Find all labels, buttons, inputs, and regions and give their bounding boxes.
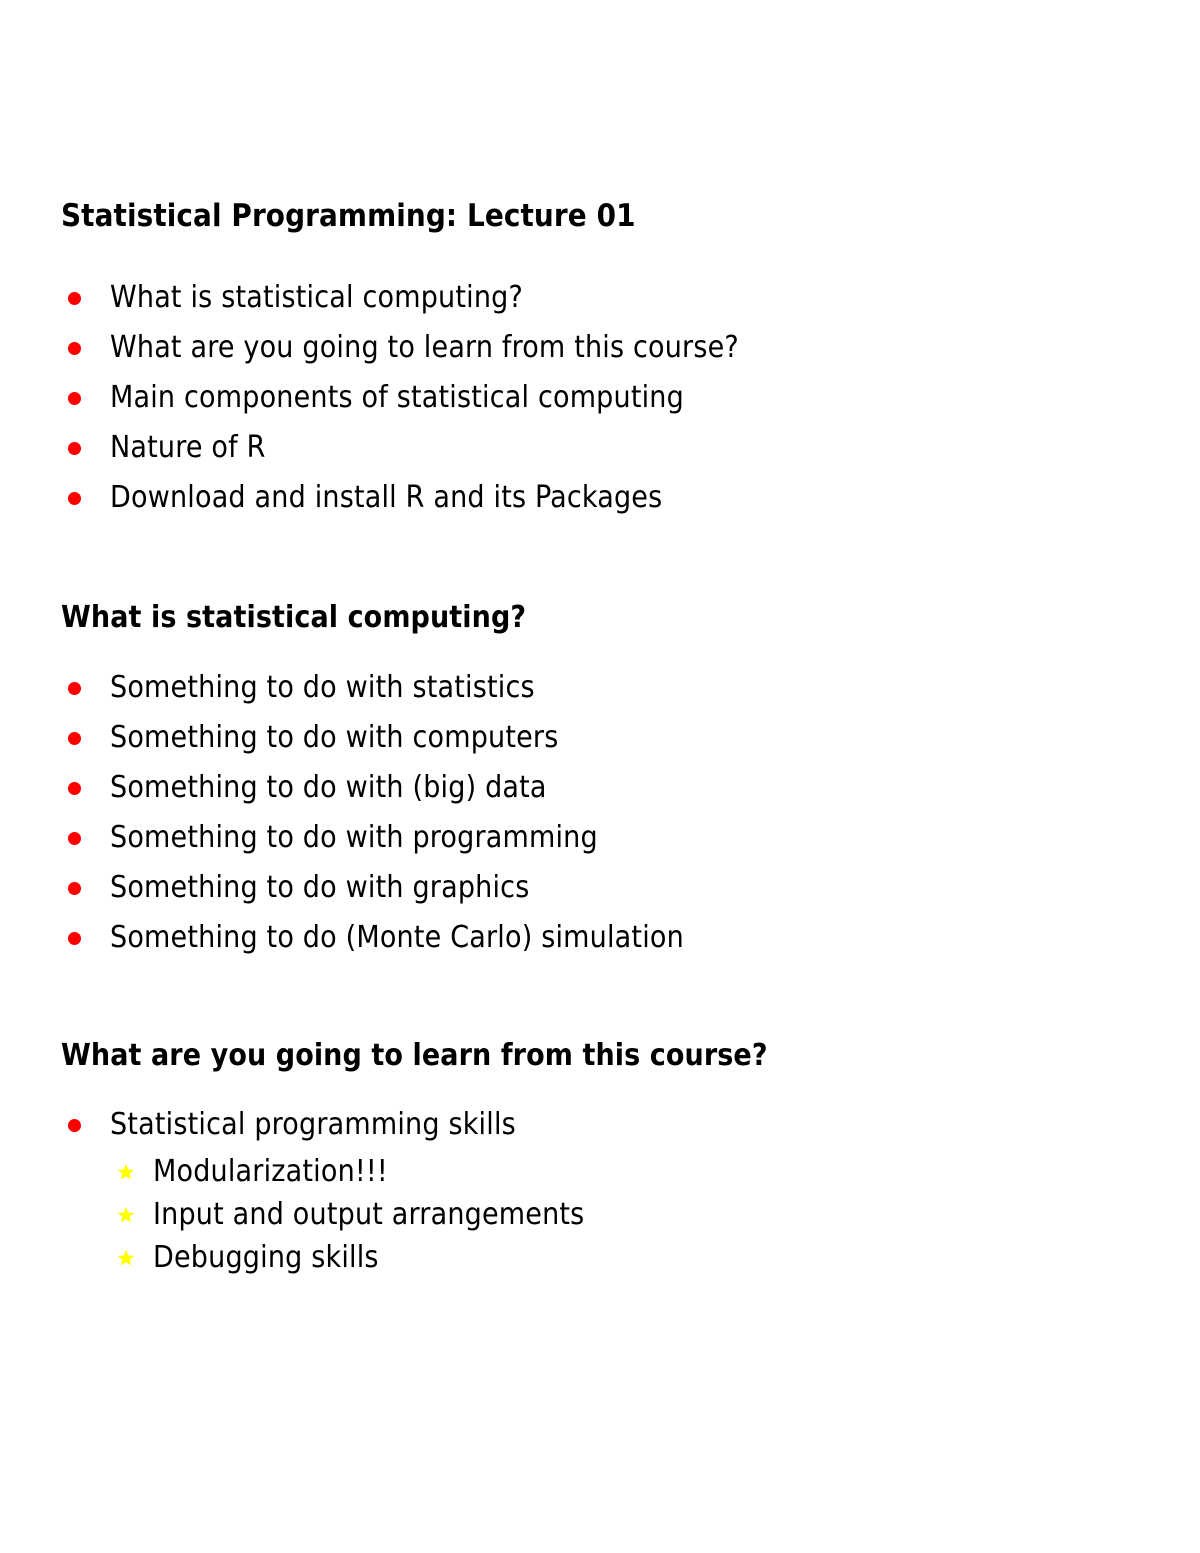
list-item: Something to do with graphics <box>0 863 684 913</box>
list-item-label: Something to do with programming <box>110 820 598 855</box>
document-page: Statistical Programming: Lecture 01 What… <box>0 0 1200 1553</box>
statistical-programming-skills-sub-list: Modularization!!! Input and output arran… <box>0 1150 584 1279</box>
sub-list-item: Input and output arrangements <box>0 1193 584 1236</box>
section-heading-what-are-you-going-to-learn: What are you going to learn from this co… <box>61 1037 768 1075</box>
list-item: What are you going to learn from this co… <box>0 323 739 373</box>
list-item: Something to do with statistics <box>0 663 684 713</box>
red-dot-bullet-icon <box>68 392 81 405</box>
sub-list-item-label: Debugging skills <box>153 1240 379 1275</box>
list-item: Download and install R and its Packages <box>0 473 739 523</box>
list-item-label: Something to do (Monte Carlo) simulation <box>110 920 684 955</box>
list-item: What is statistical computing? <box>0 273 739 323</box>
sub-list-item: Modularization!!! <box>0 1150 584 1193</box>
red-dot-bullet-icon <box>68 882 81 895</box>
list-item-label: Main components of statistical computing <box>110 380 684 415</box>
sub-list-container: Modularization!!! Input and output arran… <box>0 1150 584 1279</box>
red-dot-bullet-icon <box>68 442 81 455</box>
list-item-label: Nature of R <box>110 430 266 465</box>
red-dot-bullet-icon <box>68 732 81 745</box>
list-item: Something to do with (big) data <box>0 763 684 813</box>
list-item-label: Download and install R and its Packages <box>110 480 662 515</box>
learning-outcomes-bullet-list: Statistical programming skills Modulariz… <box>0 1100 584 1279</box>
list-item-label: Something to do with (big) data <box>110 770 547 805</box>
sub-list-item-label: Input and output arrangements <box>153 1197 584 1232</box>
red-dot-bullet-icon <box>68 1119 81 1132</box>
list-item-label: Statistical programming skills <box>110 1107 516 1142</box>
list-item: Main components of statistical computing <box>0 373 739 423</box>
list-item-label: What is statistical computing? <box>110 280 523 315</box>
red-dot-bullet-icon <box>68 342 81 355</box>
sub-list-item-label: Modularization!!! <box>153 1154 388 1189</box>
list-item-label: What are you going to learn from this co… <box>110 330 739 365</box>
list-item-label: Something to do with graphics <box>110 870 529 905</box>
overview-bullet-list: What is statistical computing? What are … <box>0 273 739 523</box>
section-heading-what-is-statistical-computing: What is statistical computing? <box>61 599 526 637</box>
list-item: Nature of R <box>0 423 739 473</box>
list-item-label: Something to do with computers <box>110 720 559 755</box>
red-dot-bullet-icon <box>68 932 81 945</box>
list-item: Something to do (Monte Carlo) simulation <box>0 913 684 963</box>
list-item: Something to do with computers <box>0 713 684 763</box>
page-title: Statistical Programming: Lecture 01 <box>61 197 636 235</box>
list-item: Something to do with programming <box>0 813 684 863</box>
list-item-label: Something to do with statistics <box>110 670 535 705</box>
red-dot-bullet-icon <box>68 782 81 795</box>
yellow-star-bullet-icon <box>117 1249 135 1267</box>
sub-list-item: Debugging skills <box>0 1236 584 1279</box>
red-dot-bullet-icon <box>68 832 81 845</box>
yellow-star-bullet-icon <box>117 1163 135 1181</box>
what-is-statistical-computing-bullet-list: Something to do with statistics Somethin… <box>0 663 684 963</box>
list-item: Statistical programming skills <box>0 1100 584 1150</box>
yellow-star-bullet-icon <box>117 1206 135 1224</box>
red-dot-bullet-icon <box>68 492 81 505</box>
red-dot-bullet-icon <box>68 682 81 695</box>
red-dot-bullet-icon <box>68 292 81 305</box>
